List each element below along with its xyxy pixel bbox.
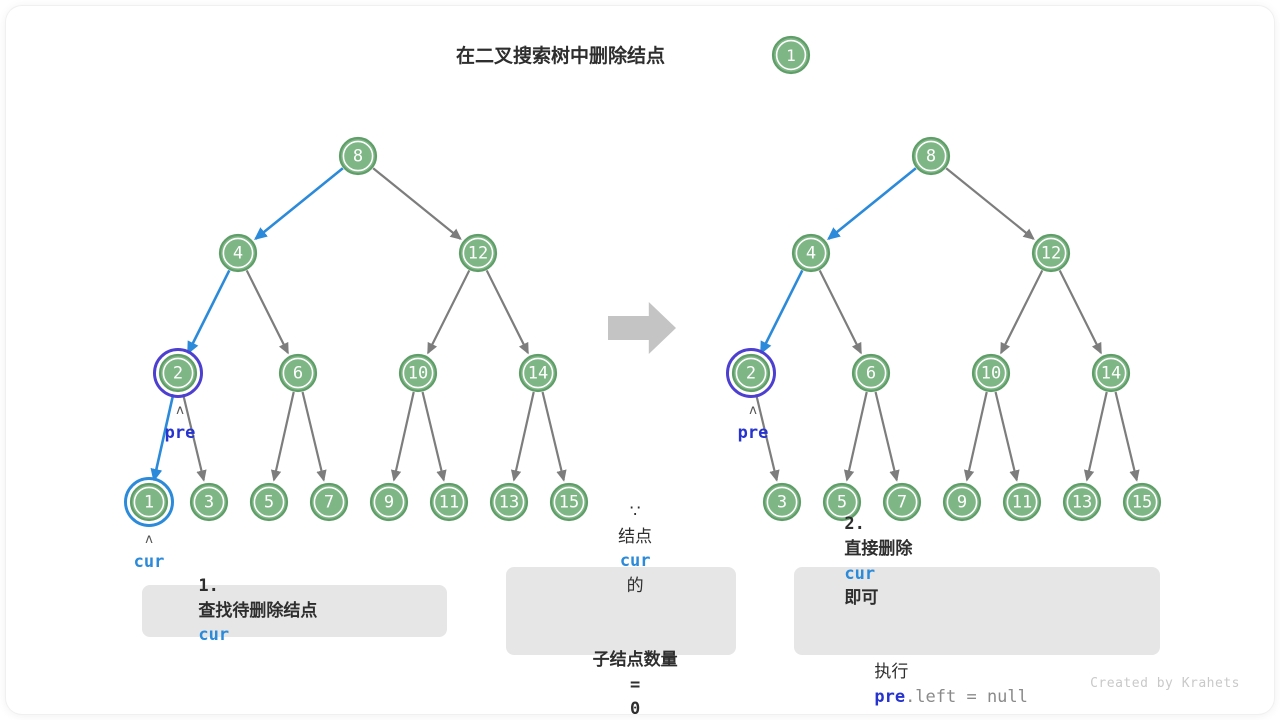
tree-edge <box>256 168 343 239</box>
tree-node[interactable]: 2 <box>728 350 775 397</box>
tree-edge <box>394 392 414 480</box>
node-value: 6 <box>293 364 303 384</box>
tree-edge <box>303 392 324 480</box>
condition-line-2: 子结点数量 = 0 <box>564 623 677 720</box>
pointer-label: pre <box>738 423 769 443</box>
tree-edge <box>428 270 469 352</box>
transition-arrow-shape <box>608 302 676 354</box>
tree-edge <box>423 392 444 480</box>
because-symbol: ∵ <box>630 502 641 521</box>
node-value: 14 <box>1101 364 1121 384</box>
node-value: 4 <box>233 244 243 264</box>
step-2-code: .left = null <box>905 687 1028 707</box>
tree-edge <box>761 270 802 352</box>
tree-edge <box>274 392 294 480</box>
pointer-caret-icon: ʌ <box>176 403 184 418</box>
node-value: 11 <box>439 493 459 513</box>
node-value: 1 <box>144 493 154 513</box>
tree-node[interactable]: 5 <box>251 484 287 520</box>
node-value: 10 <box>981 364 1001 384</box>
node-value: 4 <box>806 244 816 264</box>
node-value: 8 <box>353 147 363 167</box>
condition-line-1: ∵ 结点 cur 的 <box>590 475 652 623</box>
tree-node[interactable]: 6 <box>853 355 889 391</box>
node-value: 14 <box>528 364 548 384</box>
step-2-text-a: 直接删除 <box>844 539 912 558</box>
title-badge-label: 1 <box>786 46 796 65</box>
condition-var: cur <box>620 551 651 571</box>
binary-search-tree-after: 84122610143579111315ʌpre <box>728 138 1161 520</box>
node-value: 6 <box>866 364 876 384</box>
condition-text-a: 结点 <box>618 527 652 546</box>
tree-node[interactable]: 12 <box>460 235 496 271</box>
step-2-var: cur <box>844 564 875 584</box>
node-value: 5 <box>264 493 274 513</box>
tree-edge <box>514 392 534 480</box>
tree-node[interactable]: 4 <box>220 235 256 271</box>
condition-equals: = <box>630 675 640 695</box>
tree-edge <box>1060 270 1101 352</box>
node-value: 8 <box>926 147 936 167</box>
diagram-canvas: 在二叉搜索树中删除结点 1 841226101413579111315ʌpreʌ… <box>0 0 1280 720</box>
page-title: 在二叉搜索树中删除结点 <box>456 44 665 67</box>
footer-credit: Created by Krahets <box>1090 676 1240 691</box>
tree-edge <box>946 168 1033 239</box>
tree-node[interactable]: 3 <box>764 484 800 520</box>
node-value: 12 <box>1041 244 1061 264</box>
step-1-text: 查找待删除结点 <box>198 601 317 620</box>
node-value: 13 <box>499 493 519 513</box>
callout-step-1-line: 1. 查找待删除结点 cur <box>170 549 447 672</box>
node-value: 2 <box>173 364 183 384</box>
condition-value: 0 <box>630 699 640 719</box>
transition-arrow-icon <box>608 302 676 354</box>
tree-node[interactable]: 14 <box>520 355 556 391</box>
tree-node[interactable]: 1 <box>126 479 173 526</box>
node-value: 9 <box>384 493 394 513</box>
callout-step-1: 1. 查找待删除结点 cur <box>142 585 447 637</box>
node-value: 7 <box>324 493 334 513</box>
pointer-label: pre <box>165 423 196 443</box>
tree-edge <box>247 270 288 352</box>
callout-step-2: 2. 直接删除 cur 即可 执行 pre.left = null <box>794 567 1160 655</box>
tree-edge <box>820 270 861 352</box>
tree-node[interactable]: 9 <box>371 484 407 520</box>
cur-pointer-left: ʌcur <box>134 532 165 572</box>
tree-edge <box>1001 270 1042 352</box>
node-value: 10 <box>408 364 428 384</box>
tree-node[interactable]: 13 <box>491 484 527 520</box>
tree-node[interactable]: 12 <box>1033 235 1069 271</box>
tree-edge <box>543 392 564 480</box>
tree-edge <box>829 168 916 239</box>
tree-node[interactable]: 10 <box>973 355 1009 391</box>
tree-node[interactable]: 8 <box>913 138 949 174</box>
tree-edge <box>188 270 229 352</box>
tree-edge <box>1087 392 1107 480</box>
tree-node[interactable]: 15 <box>551 484 587 520</box>
tree-node[interactable]: 2 <box>155 350 202 397</box>
node-value: 3 <box>777 493 787 513</box>
node-value: 15 <box>559 493 579 513</box>
tree-node[interactable]: 6 <box>280 355 316 391</box>
condition-text-b: 的 <box>627 576 644 595</box>
tree-edge <box>847 392 867 480</box>
node-value: 2 <box>746 364 756 384</box>
node-value: 3 <box>204 493 214 513</box>
tree-edge <box>967 392 987 480</box>
tree-node[interactable]: 8 <box>340 138 376 174</box>
tree-node[interactable]: 14 <box>1093 355 1129 391</box>
pointer-caret-icon: ʌ <box>749 403 757 418</box>
pointer-caret-icon: ʌ <box>145 532 153 547</box>
tree-node[interactable]: 10 <box>400 355 436 391</box>
tree-edge <box>1116 392 1137 480</box>
condition-count-label: 子结点数量 <box>593 650 678 669</box>
tree-node[interactable]: 11 <box>431 484 467 520</box>
node-value: 12 <box>468 244 488 264</box>
step-1-number: 1. <box>198 576 218 596</box>
tree-edge <box>487 270 528 352</box>
tree-node[interactable]: 4 <box>793 235 829 271</box>
tree-node[interactable]: 3 <box>191 484 227 520</box>
title-badge: 1 <box>773 37 809 73</box>
tree-edge <box>996 392 1017 480</box>
step-2-line-1: 2. 直接删除 cur 即可 <box>816 488 1160 636</box>
step-2-text-b: 即可 <box>844 588 878 607</box>
tree-edge <box>876 392 897 480</box>
tree-node[interactable]: 7 <box>311 484 347 520</box>
pointer-label: cur <box>134 552 165 572</box>
pre-pointer-right: ʌpre <box>738 403 769 443</box>
binary-search-tree-before: 841226101413579111315ʌpreʌcur <box>126 138 588 572</box>
step-2-pre-var: pre <box>874 687 905 707</box>
step-1-var: cur <box>198 625 229 645</box>
tree-edge <box>373 168 460 239</box>
step-2-number: 2. <box>844 514 864 534</box>
callout-condition: ∵ 结点 cur 的 子结点数量 = 0 <box>506 567 736 655</box>
step-2-exec-label: 执行 <box>874 662 908 681</box>
